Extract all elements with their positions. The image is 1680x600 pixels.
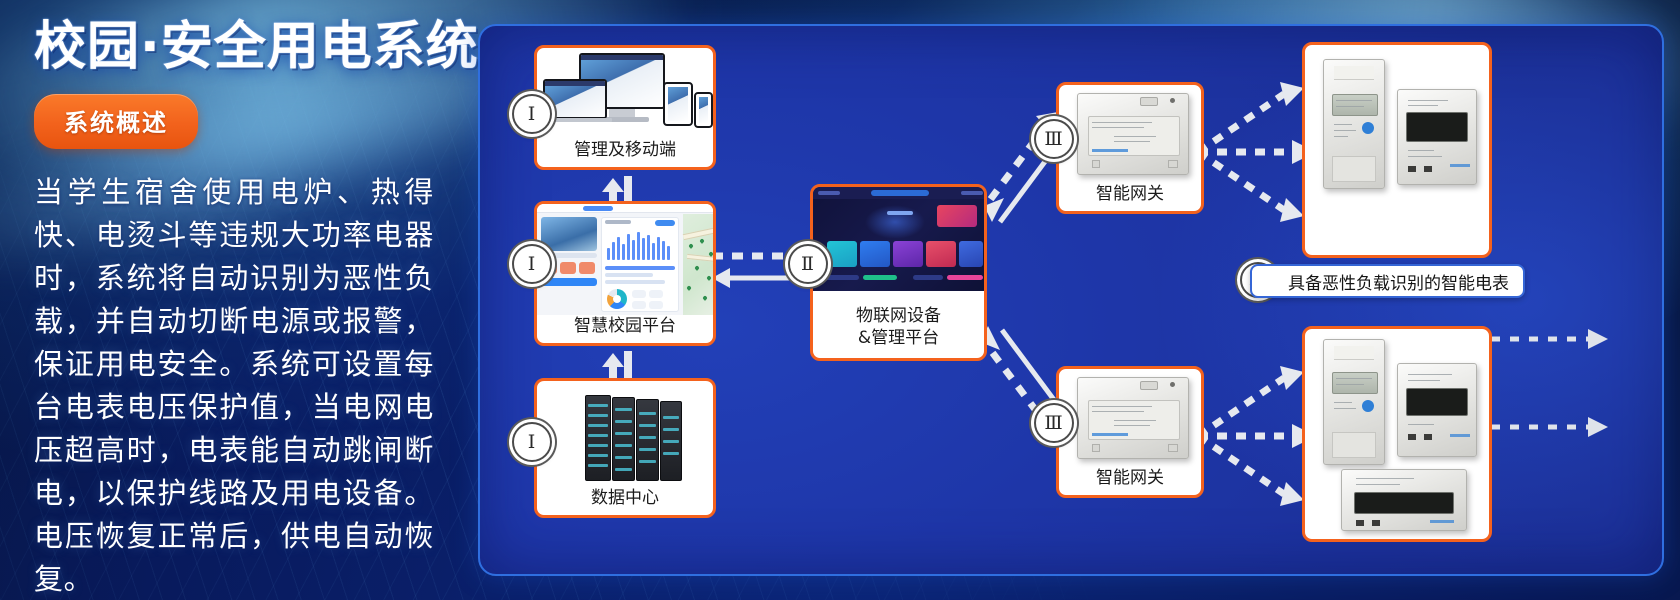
management-mobile-thumbnail xyxy=(537,48,713,139)
left-info-panel: 校园·安全用电系统 系统概述 当学生宿舍使用电炉、热得快、电烫斗等违规大功率电器… xyxy=(0,0,470,600)
architecture-diagram-board: 管理及移动端 Ⅰ xyxy=(478,24,1664,576)
gateway-device-icon xyxy=(1077,93,1189,175)
page-title: 校园·安全用电系统 xyxy=(34,18,446,76)
smart-meter-icon xyxy=(1323,339,1385,465)
data-center-thumbnail xyxy=(537,381,713,487)
node-label-management-mobile: 管理及移动端 xyxy=(537,139,713,167)
node-smart-gateway-top[interactable]: 智能网关 xyxy=(1056,82,1204,214)
smart-meter-icon xyxy=(1341,469,1467,531)
node-iot-platform[interactable]: 物联网设备 &管理平台 xyxy=(810,184,987,361)
server-rack-icon xyxy=(585,395,611,481)
smart-meter-icon xyxy=(1323,59,1385,189)
panel-smart-meters-bottom[interactable] xyxy=(1302,326,1492,542)
system-overview-text: 当学生宿舍使用电炉、热得快、电烫斗等违规大功率电器时，系统将自动识别为恶性负载，… xyxy=(34,171,434,600)
smart-gateway-top-thumbnail xyxy=(1059,85,1201,183)
gateway-device-icon xyxy=(1077,377,1189,459)
node-label-smart-campus-platform: 智慧校园平台 xyxy=(537,315,713,343)
laptop-screen-icon xyxy=(543,79,607,119)
server-rack-icon xyxy=(660,401,682,481)
smart-meter-callout[interactable]: 具备恶性负载识别的智能电表 xyxy=(1250,264,1525,298)
smart-meters-bottom-art xyxy=(1305,329,1489,539)
badge-roman-1-datacenter: Ⅰ xyxy=(512,422,552,462)
smart-meter-callout-label: 具备恶性负载识别的智能电表 xyxy=(1288,269,1509,294)
node-label-data-center: 数据中心 xyxy=(537,487,713,515)
server-rack-icon xyxy=(636,399,659,481)
node-management-mobile[interactable]: 管理及移动端 xyxy=(534,45,716,170)
smart-campus-thumbnail xyxy=(537,204,713,315)
badge-roman-2-iot: Ⅱ xyxy=(788,244,828,284)
node-label-smart-gateway-bottom: 智能网关 xyxy=(1059,467,1201,495)
server-rack-icon xyxy=(612,397,635,481)
badge-roman-1-management: Ⅰ xyxy=(512,94,552,134)
campus-dashboard-art xyxy=(537,204,713,315)
badge-roman-3-gateway-bottom: Ⅲ xyxy=(1034,403,1074,443)
badge-roman-3-gateway-top: Ⅲ xyxy=(1034,119,1074,159)
panel-smart-meters-top[interactable] xyxy=(1302,42,1492,258)
smart-meter-icon xyxy=(1397,89,1477,185)
phone-screen-icon xyxy=(694,92,713,128)
node-data-center[interactable]: 数据中心 xyxy=(534,378,716,518)
node-smart-gateway-bottom[interactable]: 智能网关 xyxy=(1056,366,1204,498)
node-label-smart-gateway-top: 智能网关 xyxy=(1059,183,1201,211)
smart-gateway-bottom-thumbnail xyxy=(1059,369,1201,467)
badge-roman-1-campus: Ⅰ xyxy=(512,244,552,284)
node-smart-campus-platform[interactable]: 智慧校园平台 xyxy=(534,201,716,346)
system-overview-badge: 系统概述 xyxy=(34,94,198,149)
iot-platform-thumbnail xyxy=(813,187,984,291)
iot-dashboard-art xyxy=(813,187,984,291)
tablet-screen-icon xyxy=(663,82,693,126)
smart-meter-icon xyxy=(1397,363,1477,457)
smart-meters-top-art xyxy=(1305,45,1489,255)
node-label-iot-platform-line1: 物联网设备 xyxy=(813,291,984,327)
node-label-iot-platform-line2: &管理平台 xyxy=(813,327,984,355)
